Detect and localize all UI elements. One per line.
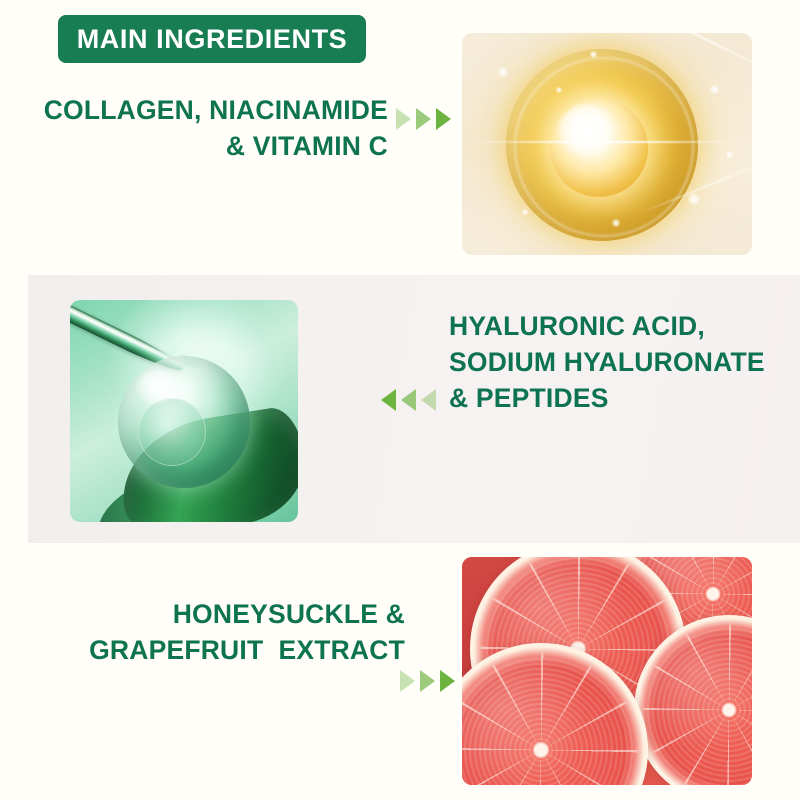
chevron-right-icon xyxy=(420,670,435,692)
sparkle-icon xyxy=(688,193,700,205)
chevron-right-icon xyxy=(416,108,431,130)
ingredient-text-collagen: COLLAGEN, NIACINAMIDE & VITAMIN C xyxy=(18,92,388,164)
chevron-left-icon xyxy=(421,389,436,411)
golden-serum-droplet-image xyxy=(462,33,752,255)
chevron-right-icon xyxy=(400,670,415,692)
green-serum-droplet-image xyxy=(70,300,298,522)
chevron-right-icon xyxy=(396,108,411,130)
chevron-left-icon xyxy=(401,389,416,411)
arrow-group-right-3 xyxy=(400,670,455,692)
sparkle-icon xyxy=(726,151,733,158)
sparkle-icon xyxy=(590,51,597,58)
green-droplet-inner-bubble xyxy=(138,398,206,466)
sparkle-icon xyxy=(498,67,508,77)
gold-highlight-shape xyxy=(558,105,620,157)
ingredient-text-honeysuckle: HONEYSUCKLE & GRAPEFRUIT EXTRACT xyxy=(10,596,405,668)
sparkle-icon xyxy=(710,85,719,94)
sparkle-icon xyxy=(612,219,620,227)
sparkle-icon xyxy=(522,209,528,215)
sparkle-icon xyxy=(556,87,562,93)
badge-label: MAIN INGREDIENTS xyxy=(77,26,348,53)
arrow-group-right-1 xyxy=(396,108,451,130)
green-droplet-specular-highlight xyxy=(136,370,180,404)
lens-flare-horizontal xyxy=(462,141,752,143)
main-ingredients-badge: MAIN INGREDIENTS xyxy=(58,15,366,63)
ingredients-infographic: MAIN INGREDIENTS COLLAGEN, NIACINAMIDE &… xyxy=(0,0,800,800)
grapefruit-slices-image xyxy=(462,557,752,785)
chevron-left-icon xyxy=(381,389,396,411)
chevron-right-icon xyxy=(440,670,455,692)
ingredient-text-hyaluronic: HYALURONIC ACID, SODIUM HYALURONATE & PE… xyxy=(449,308,794,416)
chevron-right-icon xyxy=(436,108,451,130)
arrow-group-left-2 xyxy=(381,389,436,411)
